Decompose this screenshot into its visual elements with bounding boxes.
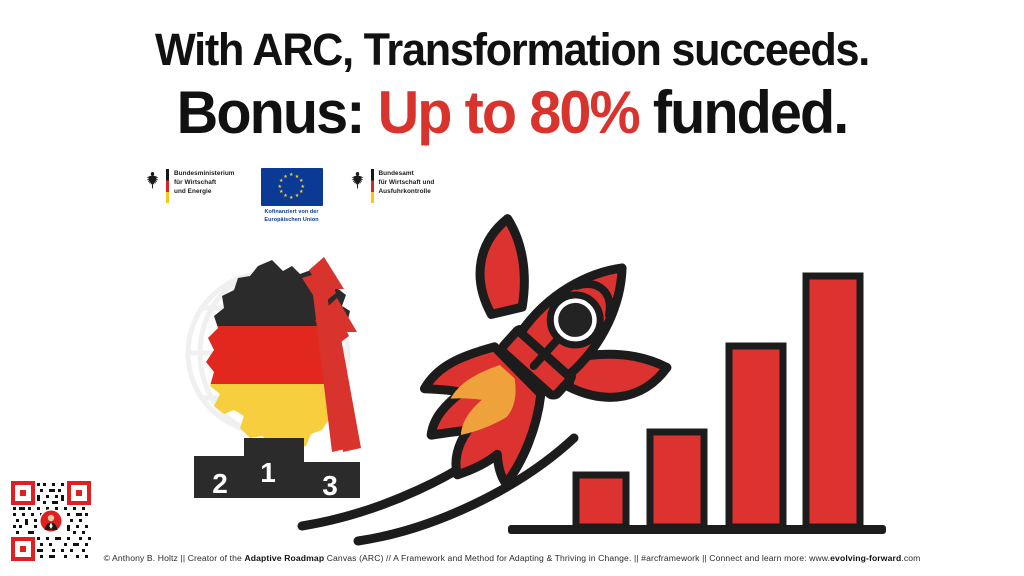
qr-center-avatar [39,509,63,533]
eu-star-icon: ★ [279,190,283,195]
qr-code[interactable] [10,480,92,562]
headline-line-1: With ARC, Transformation succeeds. [20,27,1003,72]
headline-line-2-suffix: funded. [639,79,848,146]
footer-credit: © Anthony B. Holtz || Creator of the Ada… [0,553,1024,563]
german-flag-bar [166,169,169,203]
headline-line-2-prefix: Bonus: [177,79,378,146]
chart-bar-1 [576,475,626,527]
federal-eagle-icon [144,170,161,189]
footer-site[interactable]: evolving-forward [830,553,901,563]
logo-bmwi: Bundesministerium für Wirtschaft und Ene… [144,167,235,203]
chart-bars [576,276,860,527]
footer-copyright: © Anthony B. Holtz || Creator of the [104,553,245,563]
headline-highlight: Up to 80% [378,79,639,146]
footer-brand: Adaptive Roadmap [244,553,324,563]
footer-tld: .com [901,553,920,563]
logo-bmwi-text: Bundesministerium für Wirtschaft und Ene… [174,167,235,196]
eu-star-icon: ★ [278,185,282,190]
poster-canvas: With ARC, Transformation succeeds. Bonus… [0,0,1024,576]
podium-rank-1: 1 [260,457,276,488]
rocket-growth-chart [286,176,886,548]
podium-rank-2: 2 [212,468,228,499]
logo-bmwi-line-1: Bundesministerium [174,169,235,178]
logo-bmwi-line-2: für Wirtschaft [174,178,235,187]
footer-description: Canvas (ARC) // A Framework and Method f… [324,553,830,563]
headline-block: With ARC, Transformation succeeds. Bonus… [0,0,1024,143]
headline-line-2: Bonus: Up to 80% funded. [20,83,1003,143]
chart-bar-2 [650,432,704,527]
chart-bar-4 [806,276,860,527]
logo-bmwi-line-3: und Energie [174,187,235,196]
chart-bar-3 [729,346,783,527]
